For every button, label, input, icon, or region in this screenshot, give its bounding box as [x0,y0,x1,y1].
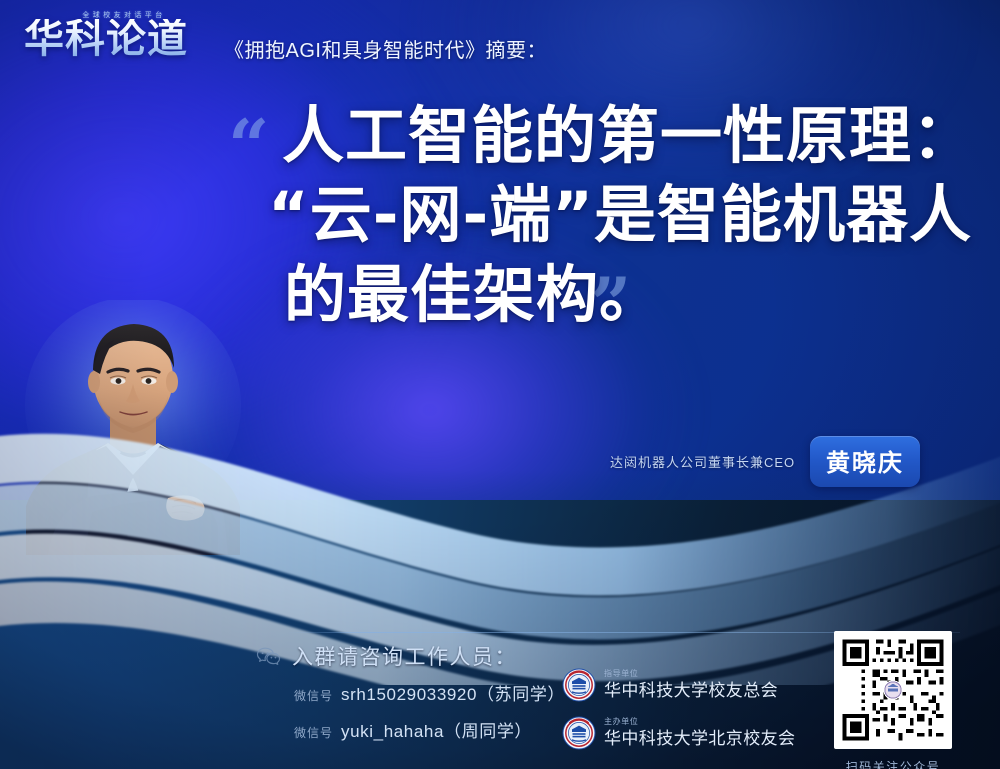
wechat-id-2: yuki_hahaha（周同学） [341,717,532,742]
speaker-role: 达闼机器人公司董事长兼CEO [610,452,795,471]
qr-code-icon[interactable] [834,631,952,749]
poster-header: 全球校友对话平台 华科论道 《拥抱AGI和具身智能时代》摘要： [0,0,1000,92]
brand-name: 华科论道 [24,19,224,59]
organization-name: 华中科技大学北京校友会 [604,730,795,748]
speaker-attribution: 达闼机器人公司董事长兼CEO [610,443,795,479]
organization-kind: 指导单位 [604,670,778,678]
wechat-label-2: 微信号 [294,724,333,741]
quote-line-1: 人工智能的第一性原理： [282,96,970,175]
contact-heading: 入群请咨询工作人员： [256,641,776,671]
speaker-name-badge: 黄晓庆 [810,436,920,487]
quote-line-2: “云-网-端”是智能机器人 [268,175,970,254]
brand-logo[interactable]: 全球校友对话平台 华科论道 [24,8,224,72]
page-title: 《拥抱AGI和具身智能时代》摘要： [224,34,547,63]
contact-title: 入群请咨询工作人员： [292,641,517,671]
quote-text-block: 人工智能的第一性原理： “云-网-端”是智能机器人 的最佳架构。 [250,96,970,334]
wechat-label-1: 微信号 [294,687,333,704]
organization-kind: 主办单位 [604,718,795,726]
organization-row: 主办单位 华中科技大学北京校友会 [562,716,795,750]
hust-seal-icon [562,716,596,750]
poster-canvas: 全球校友对话平台 华科论道 《拥抱AGI和具身智能时代》摘要： “ ” 人工智能… [0,0,1000,769]
quote-line-3: 的最佳架构。 [284,255,970,334]
wechat-id-1: srh15029033920（苏同学） [341,680,565,705]
hust-seal-icon [562,668,596,702]
organization-row: 指导单位 华中科技大学校友总会 [562,668,795,702]
organization-name: 华中科技大学校友总会 [604,682,778,700]
organization-text: 指导单位 华中科技大学校友总会 [604,670,778,699]
qr-caption: 扫码关注公众号 [829,758,957,769]
wechat-icon [256,647,282,665]
qr-section: 扫码关注公众号 [829,631,957,769]
organizations-section: 指导单位 华中科技大学校友总会 主办单位 华中科技大学北京校友 [562,668,795,764]
organization-text: 主办单位 华中科技大学北京校友会 [604,718,795,747]
